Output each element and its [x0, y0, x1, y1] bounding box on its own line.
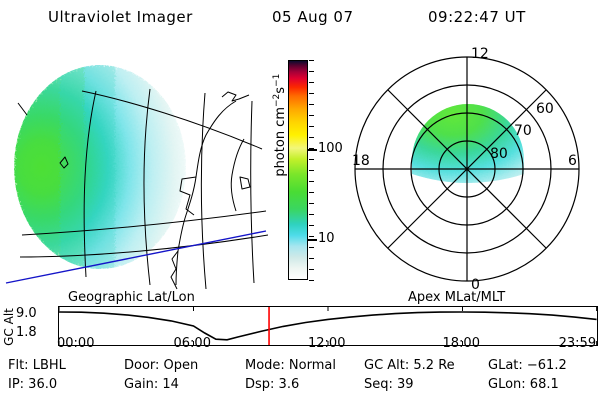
- lat-label-60: 60: [536, 101, 554, 117]
- observation-date: 05 Aug 07: [272, 8, 354, 26]
- colorbar-major-tick: [308, 149, 317, 151]
- orbit-ylabel: GC Alt: [2, 306, 16, 346]
- colorbar-major-tick: [308, 239, 317, 241]
- lat-label-70: 70: [514, 123, 532, 139]
- orbit-xtick-label: 12:00: [308, 336, 345, 351]
- orbit-ytick-high: 9.0: [16, 306, 56, 321]
- mlt-label-12: 12: [471, 46, 489, 62]
- status-field-gc-alt: GC Alt: 5.2 Re: [364, 358, 455, 373]
- colorbar-minor-tick: [309, 60, 314, 61]
- colorbar-axis-label: photon cm−2s−1: [272, 45, 288, 205]
- orbit-ytick-low: 1.8: [16, 325, 56, 340]
- colorbar-minor-tick: [309, 71, 314, 72]
- status-footer: Flt: LBHLDoor: OpenMode: NormalGC Alt: 5…: [0, 358, 600, 396]
- colorbar-minor-tick: [309, 159, 314, 160]
- geographic-map-svg: [0, 45, 268, 295]
- colorbar-minor-tick: [309, 280, 314, 281]
- status-field-door: Door: Open: [124, 358, 198, 373]
- colorbar-minor-tick: [309, 258, 314, 259]
- status-row-2: IP: 36.0Gain: 14Dsp: 3.6Seq: 39GLon: 68.…: [0, 377, 600, 396]
- colorbar-minor-tick: [309, 203, 314, 204]
- colorbar-minor-tick: [309, 192, 314, 193]
- colorbar-minor-tick: [309, 181, 314, 182]
- apex-dial-svg: 12 6 0 18 60 70 80: [340, 42, 598, 297]
- orbit-xtick-label: 06:00: [174, 336, 211, 351]
- colorbar-minor-tick: [309, 93, 314, 94]
- status-field-glon: GLon: 68.1: [488, 377, 559, 392]
- status-field-ip: IP: 36.0: [8, 377, 57, 392]
- aurora-disk: [14, 65, 186, 270]
- colorbar-minor-tick: [309, 236, 314, 237]
- status-field-gain: Gain: 14: [124, 377, 179, 392]
- mlt-label-6: 6: [568, 153, 577, 169]
- geographic-map-panel: [0, 45, 268, 295]
- status-field-seq: Seq: 39: [364, 377, 414, 392]
- colorbar-minor-tick: [309, 82, 314, 83]
- instrument-title: Ultraviolet Imager: [48, 8, 193, 26]
- observation-time: 09:22:47 UT: [428, 8, 526, 26]
- orbit-xtick-label: 00:00: [57, 336, 94, 351]
- colorbar-minor-tick: [309, 269, 314, 270]
- colorbar-minor-tick: [309, 126, 314, 127]
- colorbar-minor-tick: [309, 225, 314, 226]
- orbit-xtick-label: 23:59: [559, 336, 596, 351]
- colorbar-tick-label: 10: [318, 231, 335, 246]
- dial-mlt-spokes: [355, 57, 579, 281]
- status-field-flt: Flt: LBHL: [8, 358, 66, 373]
- orbit-xtick-label: 18:00: [443, 336, 480, 351]
- colorbar-minor-tick: [309, 214, 314, 215]
- status-field-mode: Mode: Normal: [245, 358, 336, 373]
- lat-label-80: 80: [490, 146, 508, 162]
- colorbar-minor-tick: [309, 137, 314, 138]
- colorbar-minor-tick: [309, 170, 314, 171]
- colorbar-minor-tick: [309, 247, 314, 248]
- mlt-label-18: 18: [352, 153, 370, 169]
- status-field-dsp: Dsp: 3.6: [245, 377, 299, 392]
- apex-polar-dial: 12 6 0 18 60 70 80: [340, 42, 598, 297]
- aurora-dome: [400, 92, 540, 192]
- status-row-1: Flt: LBHLDoor: OpenMode: NormalGC Alt: 5…: [0, 358, 600, 377]
- orbit-altitude-strip: GC Alt 9.0 1.8 00:0006:0012:0018:0023:59: [0, 302, 600, 354]
- colorbar-minor-tick: [309, 115, 314, 116]
- colorbar-gradient: [288, 60, 308, 280]
- colorbar-minor-tick: [309, 104, 314, 105]
- status-field-glat: GLat: −61.2: [488, 358, 567, 373]
